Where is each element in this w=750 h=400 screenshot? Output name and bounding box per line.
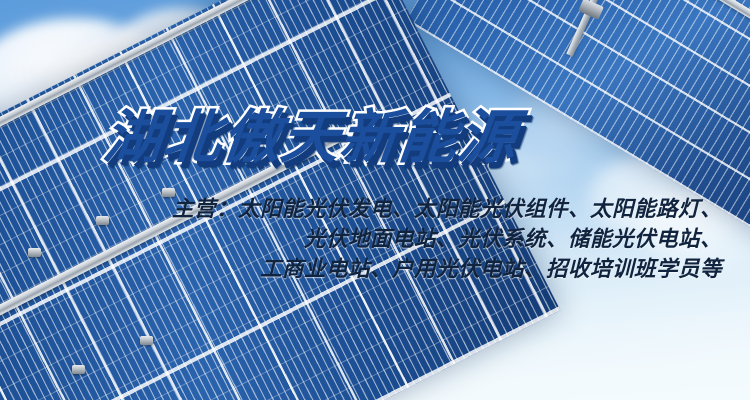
business-scope-line-2: 光伏地面电站、光伏系统、储能光伏电站、: [22, 224, 722, 254]
page-title: 湖北傲天新能源: [101, 108, 520, 169]
business-scope-line-3: 工商业电站、户用光伏电站、招收培训班学员等: [22, 254, 722, 284]
business-scope-text: 主营：太阳能光伏发电、太阳能光伏组件、太阳能路灯、 光伏地面电站、光伏系统、储能…: [22, 194, 722, 284]
business-scope-line-1: 主营：太阳能光伏发电、太阳能光伏组件、太阳能路灯、: [22, 194, 722, 224]
solar-company-banner: 湖北傲天新能源 主营：太阳能光伏发电、太阳能光伏组件、太阳能路灯、 光伏地面电站…: [0, 0, 750, 400]
panel-clamp-icon: [72, 365, 85, 374]
panel-clamp-icon: [140, 336, 153, 345]
